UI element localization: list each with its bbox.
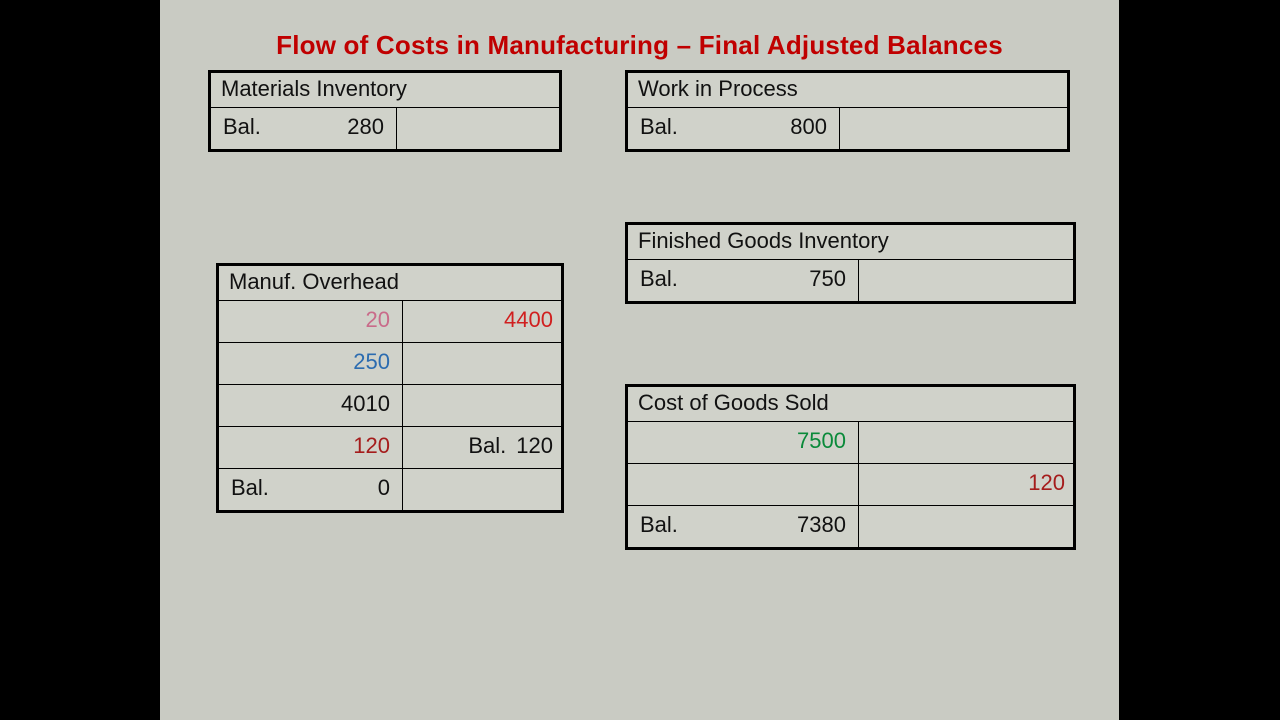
cell-credit: 4400 bbox=[403, 301, 561, 342]
slide-stage: Flow of Costs in Manufacturing – Final A… bbox=[0, 0, 1280, 720]
cell-value: 120 bbox=[512, 434, 553, 459]
cell-credit bbox=[859, 506, 1073, 547]
table-row: 204400 bbox=[219, 301, 561, 343]
table-row: Bal.280 bbox=[211, 108, 559, 149]
cell-value: 120 bbox=[353, 434, 394, 459]
page-title: Flow of Costs in Manufacturing – Final A… bbox=[160, 30, 1119, 61]
cell-value: 750 bbox=[809, 267, 850, 292]
cell-credit bbox=[840, 108, 1067, 149]
cell-debit: 250 bbox=[219, 343, 403, 384]
cell-value: 4400 bbox=[500, 308, 553, 333]
table-row: 250 bbox=[219, 343, 561, 385]
cell-label: Bal. bbox=[636, 115, 678, 140]
cell-debit: 7500 bbox=[628, 422, 859, 463]
table-row: Bal.800 bbox=[628, 108, 1067, 149]
cell-value: 800 bbox=[790, 115, 831, 140]
table-row: 120 bbox=[628, 464, 1073, 506]
table-row: Bal.0 bbox=[219, 469, 561, 510]
cell-debit: Bal.280 bbox=[211, 108, 397, 149]
table-row: 4010 bbox=[219, 385, 561, 427]
cell-label: Bal. bbox=[636, 513, 678, 538]
table-row: Bal.7380 bbox=[628, 506, 1073, 547]
cell-debit: 120 bbox=[219, 427, 403, 468]
table-row: 120Bal.120 bbox=[219, 427, 561, 469]
cell-value: 120 bbox=[1024, 471, 1065, 496]
cell-value: 4010 bbox=[341, 392, 394, 417]
t-account-title: Work in Process bbox=[628, 73, 1067, 108]
t-account-cost-of-goods-sold: Cost of Goods Sold7500120Bal.7380 bbox=[625, 384, 1076, 550]
cell-credit bbox=[403, 469, 561, 510]
t-account-title: Finished Goods Inventory bbox=[628, 225, 1073, 260]
table-row: Bal.750 bbox=[628, 260, 1073, 301]
cell-label: Bal. bbox=[468, 434, 512, 459]
table-row: 7500 bbox=[628, 422, 1073, 464]
cell-credit bbox=[397, 108, 559, 149]
t-account-title: Manuf. Overhead bbox=[219, 266, 561, 301]
cell-value: 7500 bbox=[797, 429, 850, 454]
cell-value: 280 bbox=[347, 115, 388, 140]
t-account-materials-inventory: Materials InventoryBal.280 bbox=[208, 70, 562, 152]
cell-debit: Bal.750 bbox=[628, 260, 859, 301]
cell-value: 0 bbox=[378, 476, 394, 501]
cell-credit bbox=[403, 385, 561, 426]
cell-debit: Bal.800 bbox=[628, 108, 840, 149]
cell-label: Bal. bbox=[636, 267, 678, 292]
slide-canvas: Flow of Costs in Manufacturing – Final A… bbox=[160, 0, 1119, 720]
cell-value: 20 bbox=[366, 308, 394, 333]
t-account-finished-goods-inventory: Finished Goods InventoryBal.750 bbox=[625, 222, 1076, 304]
cell-debit bbox=[628, 464, 859, 505]
cell-credit: 120 bbox=[859, 464, 1073, 505]
t-account-manuf-overhead: Manuf. Overhead2044002504010120Bal.120Ba… bbox=[216, 263, 564, 513]
cell-label: Bal. bbox=[219, 115, 261, 140]
cell-label: Bal. bbox=[227, 476, 269, 501]
cell-debit: Bal.0 bbox=[219, 469, 403, 510]
cell-credit bbox=[859, 422, 1073, 463]
t-account-work-in-process: Work in ProcessBal.800 bbox=[625, 70, 1070, 152]
cell-credit: Bal.120 bbox=[403, 427, 561, 468]
cell-value: 7380 bbox=[797, 513, 850, 538]
cell-debit: 20 bbox=[219, 301, 403, 342]
cell-debit: 4010 bbox=[219, 385, 403, 426]
cell-debit: Bal.7380 bbox=[628, 506, 859, 547]
t-account-title: Cost of Goods Sold bbox=[628, 387, 1073, 422]
cell-value: 250 bbox=[353, 350, 394, 375]
t-account-title: Materials Inventory bbox=[211, 73, 559, 108]
cell-credit bbox=[403, 343, 561, 384]
cell-credit bbox=[859, 260, 1073, 301]
